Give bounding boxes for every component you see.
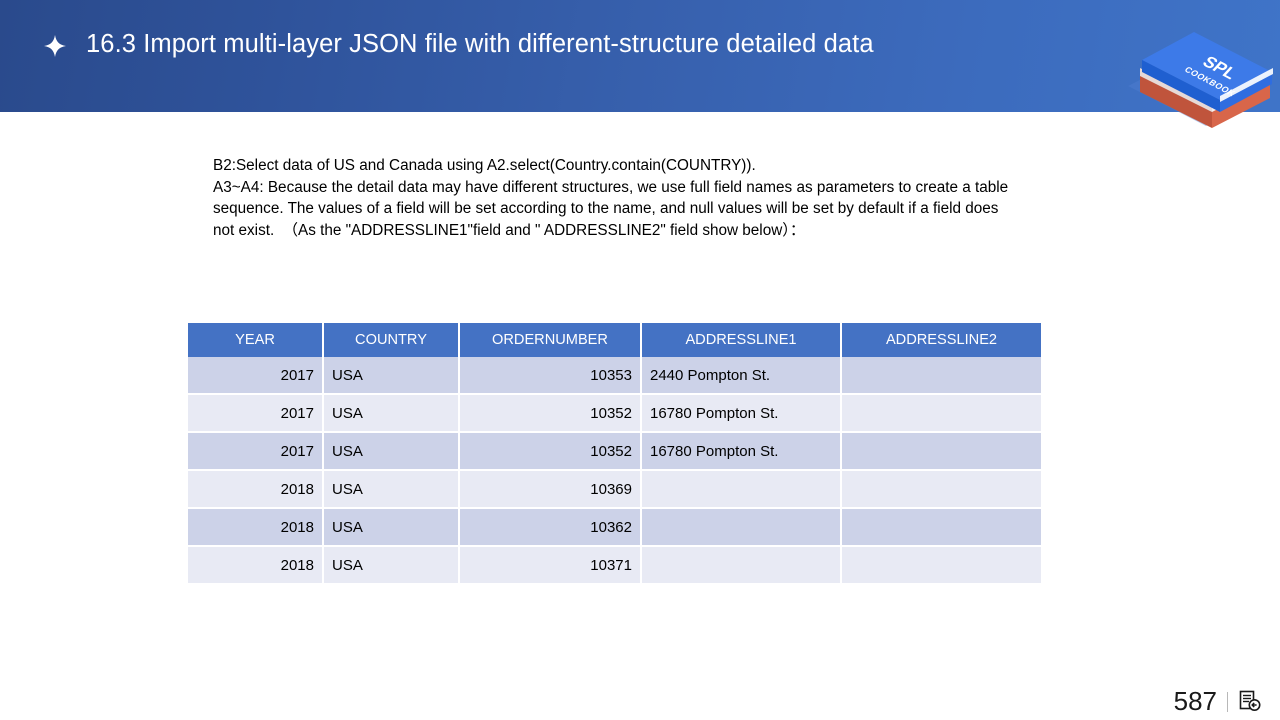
table-cell-addr2	[842, 471, 1041, 509]
table-cell-addr1: 16780 Pompton St.	[642, 433, 842, 471]
table-cell-year: 2018	[188, 547, 324, 585]
document-back-icon[interactable]	[1238, 689, 1262, 713]
table-cell-order: 10362	[460, 509, 642, 547]
slide-footer: 587	[1174, 688, 1262, 714]
table-cell-order: 10371	[460, 547, 642, 585]
table-row: 2017USA103532440 Pompton St.	[188, 357, 1041, 395]
description-paragraph: B2:Select data of US and Canada using A2…	[213, 155, 1013, 241]
table-cell-addr1	[642, 509, 842, 547]
table-cell-country: USA	[324, 357, 460, 395]
column-header-country: COUNTRY	[324, 323, 460, 357]
table-cell-addr1	[642, 547, 842, 585]
table-cell-order: 10352	[460, 395, 642, 433]
data-table-container: YEAR COUNTRY ORDERNUMBER ADDRESSLINE1 AD…	[188, 323, 1041, 585]
table-cell-addr2	[842, 357, 1041, 395]
table-body: 2017USA103532440 Pompton St.2017USA10352…	[188, 357, 1041, 585]
slide-header: 16.3 Import multi-layer JSON file with d…	[0, 0, 1280, 112]
logo-line-1: SPL	[1199, 52, 1242, 83]
table-header-row: YEAR COUNTRY ORDERNUMBER ADDRESSLINE1 AD…	[188, 323, 1041, 357]
table-cell-addr2	[842, 433, 1041, 471]
table-cell-year: 2018	[188, 471, 324, 509]
page-number: 587	[1174, 688, 1217, 714]
table-cell-year: 2017	[188, 357, 324, 395]
table-row: 2018USA10369	[188, 471, 1041, 509]
table-cell-order: 10352	[460, 433, 642, 471]
table-cell-addr2	[842, 395, 1041, 433]
table-cell-country: USA	[324, 509, 460, 547]
page-title: 16.3 Import multi-layer JSON file with d…	[86, 30, 874, 59]
column-header-ordernumber: ORDERNUMBER	[460, 323, 642, 357]
table-header: YEAR COUNTRY ORDERNUMBER ADDRESSLINE1 AD…	[188, 323, 1041, 357]
table-cell-year: 2018	[188, 509, 324, 547]
table-cell-addr2	[842, 547, 1041, 585]
column-header-addressline2: ADDRESSLINE2	[842, 323, 1041, 357]
table-row: 2017USA1035216780 Pompton St.	[188, 433, 1041, 471]
table-cell-country: USA	[324, 395, 460, 433]
table-cell-order: 10353	[460, 357, 642, 395]
table-row: 2017USA1035216780 Pompton St.	[188, 395, 1041, 433]
table-cell-addr1: 16780 Pompton St.	[642, 395, 842, 433]
table-cell-year: 2017	[188, 395, 324, 433]
table-cell-addr1	[642, 471, 842, 509]
data-table: YEAR COUNTRY ORDERNUMBER ADDRESSLINE1 AD…	[188, 323, 1041, 585]
table-cell-country: USA	[324, 433, 460, 471]
table-cell-country: USA	[324, 547, 460, 585]
table-row: 2018USA10371	[188, 547, 1041, 585]
logo-line-2: COOKBOOK	[1182, 65, 1238, 98]
table-cell-addr1: 2440 Pompton St.	[642, 357, 842, 395]
spl-cookbook-books-icon: SPL COOKBOOK	[1120, 12, 1280, 130]
table-cell-order: 10369	[460, 471, 642, 509]
footer-divider	[1227, 692, 1228, 712]
column-header-year: YEAR	[188, 323, 324, 357]
table-cell-addr2	[842, 509, 1041, 547]
column-header-addressline1: ADDRESSLINE1	[642, 323, 842, 357]
table-cell-year: 2017	[188, 433, 324, 471]
table-cell-country: USA	[324, 471, 460, 509]
four-point-star-icon	[44, 35, 66, 57]
title-row: 16.3 Import multi-layer JSON file with d…	[44, 30, 874, 59]
table-row: 2018USA10362	[188, 509, 1041, 547]
